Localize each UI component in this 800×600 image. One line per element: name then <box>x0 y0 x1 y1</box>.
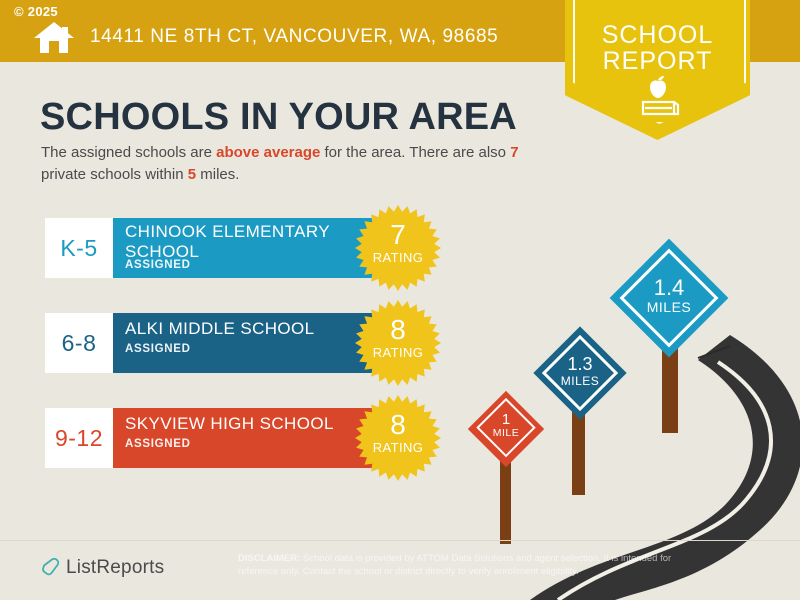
rating-label: RATING <box>355 345 441 360</box>
school-name: ALKI MIDDLE SCHOOL <box>125 319 350 339</box>
sign-unit: MILES <box>547 373 613 389</box>
rating-value: 8 <box>355 411 441 439</box>
home-icon <box>32 20 76 54</box>
disclaimer-text: DISCLAIMER: School data is provided by A… <box>238 552 698 578</box>
school-status: ASSIGNED <box>125 259 191 271</box>
sign-unit: MILE <box>479 427 533 439</box>
footer-divider <box>0 540 800 541</box>
sign-value: 1.3 <box>547 355 613 373</box>
page-title: SCHOOLS IN YOUR AREA <box>40 96 517 139</box>
grade-range-label: 6-8 <box>62 330 97 357</box>
sign-text: 1 MILE <box>479 412 533 439</box>
sign-value: 1 <box>479 412 533 427</box>
infographic-canvas: © 2025 14411 NE 8TH CT, VANCOUVER, WA, 9… <box>0 0 800 600</box>
grade-range-badge: 9-12 <box>45 408 113 468</box>
grade-range-label: 9-12 <box>55 425 103 452</box>
rating-label: RATING <box>355 250 441 265</box>
grade-range-badge: K-5 <box>45 218 113 278</box>
school-row[interactable]: K-5 CHINOOK ELEMENTARY SCHOOL ASSIGNED <box>45 218 390 278</box>
school-bar: SKYVIEW HIGH SCHOOL ASSIGNED <box>113 408 390 468</box>
disclaimer-body: School data is provided by ATTOM Data So… <box>238 553 671 577</box>
subtitle-highlight-rating: above average <box>216 144 320 161</box>
subtitle-text-4: miles. <box>196 166 239 183</box>
school-status: ASSIGNED <box>125 343 191 355</box>
disclaimer-label: DISCLAIMER: <box>238 553 300 564</box>
road-illustration: 1.4 MILES 1.3 MILES 1 <box>430 250 800 600</box>
badge-title-line2: REPORT <box>565 48 750 74</box>
school-bar: CHINOOK ELEMENTARY SCHOOL ASSIGNED <box>113 218 390 278</box>
copyright-label: © 2025 <box>14 4 58 19</box>
school-name: CHINOOK ELEMENTARY SCHOOL <box>125 222 350 262</box>
page-subtitle: The assigned schools are above average f… <box>41 142 561 186</box>
subtitle-highlight-miles: 5 <box>188 166 196 183</box>
sign-text: 1.4 MILES <box>627 277 711 315</box>
grade-range-label: K-5 <box>60 235 97 262</box>
rating-value: 7 <box>355 221 441 249</box>
listreports-logo-icon <box>40 557 62 579</box>
rating-badge: 7 RATING <box>355 205 441 291</box>
sign-unit: MILES <box>627 299 711 315</box>
school-row[interactable]: 6-8 ALKI MIDDLE SCHOOL ASSIGNED <box>45 313 390 373</box>
property-address: 14411 NE 8TH CT, VANCOUVER, WA, 98685 <box>90 26 498 48</box>
apple-on-book-icon <box>632 74 684 118</box>
grade-range-badge: 6-8 <box>45 313 113 373</box>
school-bar: ALKI MIDDLE SCHOOL ASSIGNED <box>113 313 390 373</box>
rating-badge: 8 RATING <box>355 300 441 386</box>
rating-label: RATING <box>355 440 441 455</box>
badge-title-line1: SCHOOL <box>565 22 750 48</box>
subtitle-text-3: private schools within <box>41 166 188 183</box>
listreports-wordmark: ListReports <box>66 557 164 579</box>
school-name: SKYVIEW HIGH SCHOOL <box>125 414 350 434</box>
subtitle-text-1: The assigned schools are <box>41 144 216 161</box>
school-status: ASSIGNED <box>125 438 191 450</box>
school-row[interactable]: 9-12 SKYVIEW HIGH SCHOOL ASSIGNED <box>45 408 390 468</box>
subtitle-text-2: for the area. There are also <box>320 144 510 161</box>
rating-badge: 8 RATING <box>355 395 441 481</box>
badge-title: SCHOOL REPORT <box>565 22 750 74</box>
sign-value: 1.4 <box>627 277 711 299</box>
subtitle-highlight-count: 7 <box>510 144 518 161</box>
sign-text: 1.3 MILES <box>547 355 613 389</box>
rating-value: 8 <box>355 316 441 344</box>
